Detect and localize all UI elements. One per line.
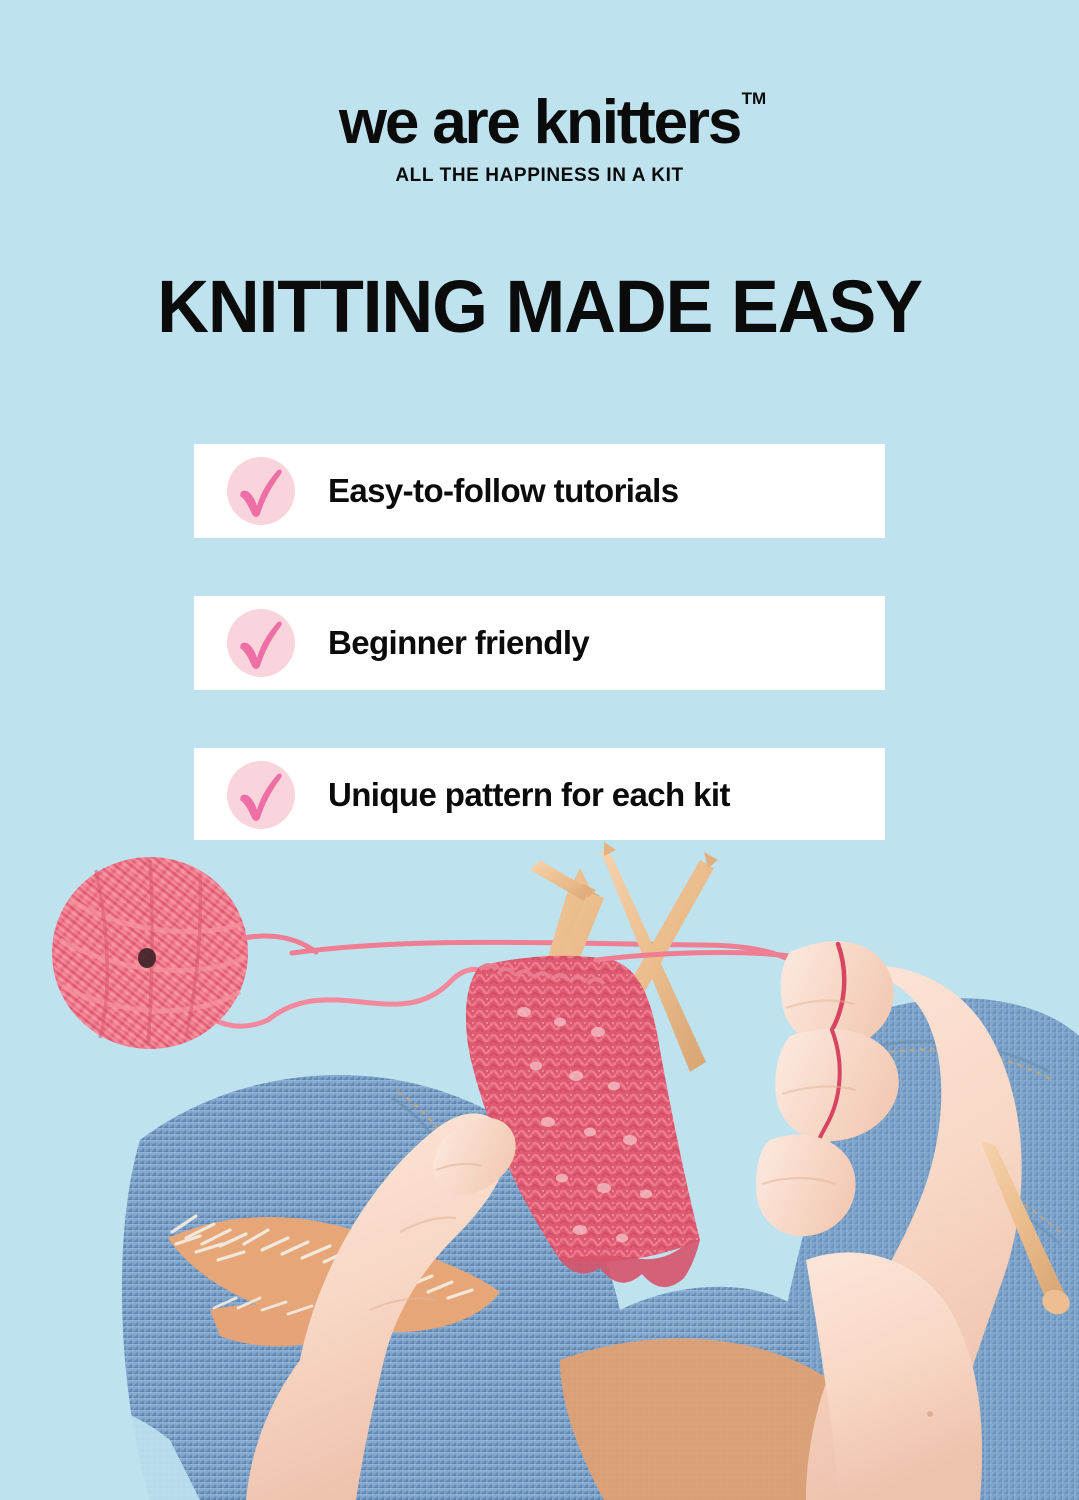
feature-label-3: Unique pattern for each kit <box>328 776 730 814</box>
page-title: KNITTING MADE EASY <box>16 270 1063 344</box>
check-icon <box>224 758 298 832</box>
brand-block: we are knittersTM ALL THE HAPPINESS IN A… <box>0 92 1079 187</box>
brand-tagline: ALL THE HAPPINESS IN A KIT <box>0 165 1079 187</box>
feature-label-2: Beginner friendly <box>328 624 589 662</box>
brand-name-text: we are knitters <box>339 88 740 157</box>
feature-card-2[interactable]: Beginner friendly <box>194 596 885 690</box>
brand-name: we are knittersTM <box>339 92 740 154</box>
feature-card-3[interactable]: Unique pattern for each kit <box>194 748 885 842</box>
check-icon-wrap-2 <box>224 606 298 680</box>
check-icon <box>224 606 298 680</box>
trademark-symbol: TM <box>742 90 767 107</box>
poster: we are knittersTM ALL THE HAPPINESS IN A… <box>0 0 1079 1500</box>
hero-photo <box>0 840 1079 1500</box>
feature-list: Easy-to-follow tutorials Beginner friend… <box>194 444 885 842</box>
feature-card-1[interactable]: Easy-to-follow tutorials <box>194 444 885 538</box>
check-icon <box>224 454 298 528</box>
check-icon-wrap-1 <box>224 454 298 528</box>
hero-photo-illustration <box>0 840 1079 1500</box>
check-icon-wrap-3 <box>224 758 298 832</box>
feature-label-1: Easy-to-follow tutorials <box>328 472 678 510</box>
yarn-ball-center <box>138 948 156 968</box>
